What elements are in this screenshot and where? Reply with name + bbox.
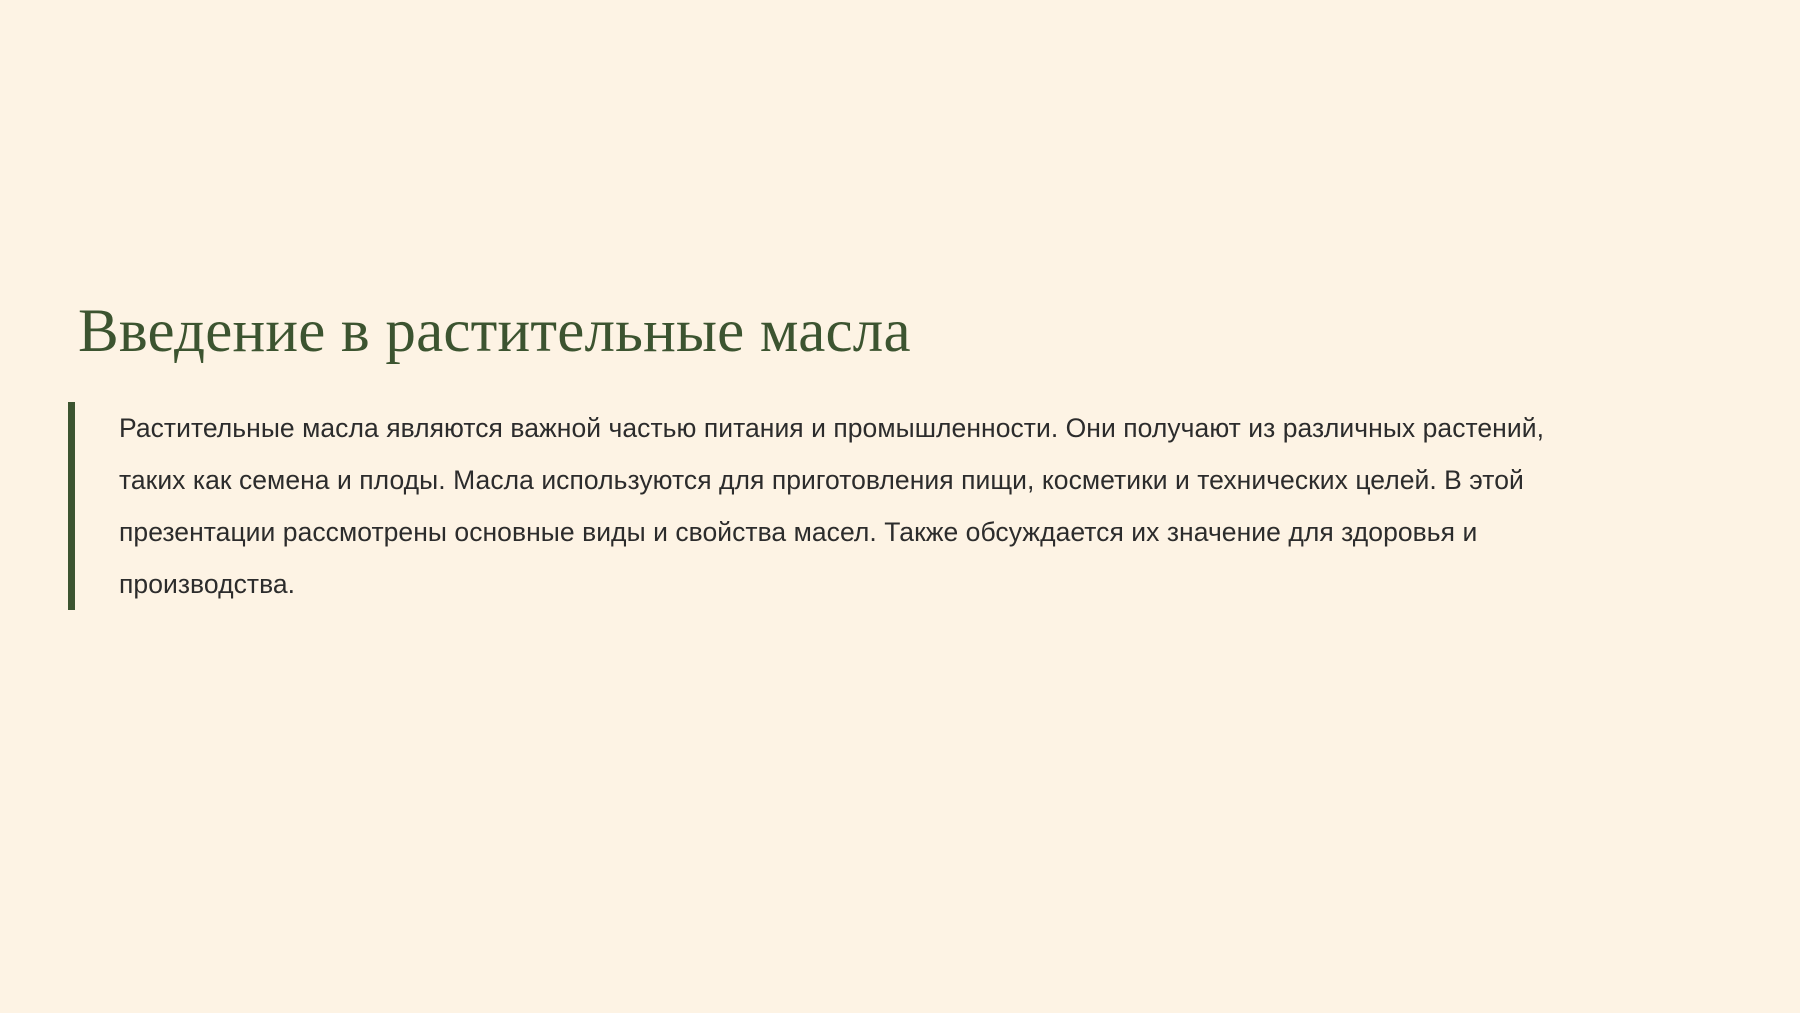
body-text-block: Растительные масла являются важной часть… — [68, 402, 1748, 610]
body-paragraph: Растительные масла являются важной часть… — [75, 402, 1559, 610]
presentation-slide: Введение в растительные масла Растительн… — [0, 0, 1800, 1013]
page-title: Введение в растительные масла — [78, 299, 911, 365]
left-accent-bar — [68, 402, 75, 610]
slide-content: Введение в растительные масла Растительн… — [0, 0, 1800, 1013]
